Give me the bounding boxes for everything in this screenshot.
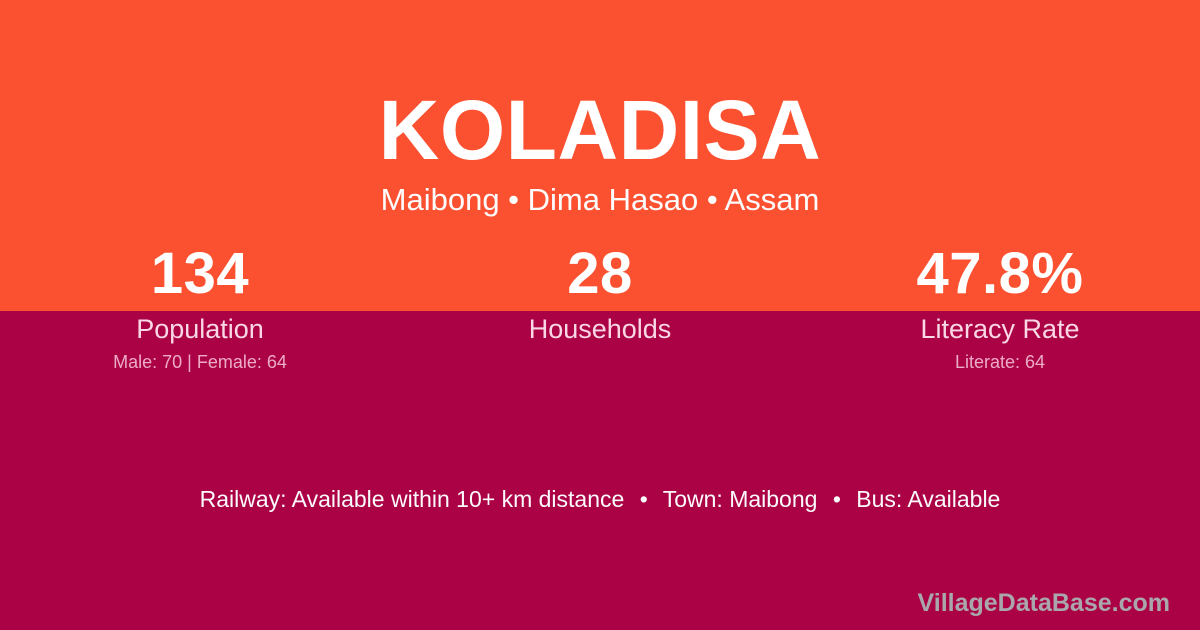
- stat-value: 134: [0, 243, 400, 305]
- amenity-separator-icon: •: [824, 486, 850, 512]
- location-breadcrumb: Maibong • Dima Hasao • Assam: [0, 182, 1200, 218]
- stat-population: 134 Population Male: 70 | Female: 64: [0, 243, 400, 373]
- stat-households: 28 Households: [400, 243, 800, 351]
- stat-value: 28: [400, 243, 800, 305]
- stat-label: Literacy Rate: [800, 313, 1200, 345]
- page-title: KOLADISA: [0, 84, 1200, 176]
- amenity-bus: Bus: Available: [856, 486, 1000, 512]
- stats-row: 134 Population Male: 70 | Female: 64 28 …: [0, 243, 1200, 373]
- stat-value: 47.8%: [800, 243, 1200, 305]
- amenities-line: Railway: Available within 10+ km distanc…: [0, 484, 1200, 514]
- amenity-separator-icon: •: [631, 486, 657, 512]
- stat-label: Households: [400, 313, 800, 345]
- stat-sub: Literate: 64: [800, 351, 1200, 373]
- stat-label: Population: [0, 313, 400, 345]
- amenity-railway: Railway: Available within 10+ km distanc…: [200, 486, 625, 512]
- stat-sub: Male: 70 | Female: 64: [0, 351, 400, 373]
- amenity-town: Town: Maibong: [663, 486, 818, 512]
- stat-literacy-rate: 47.8% Literacy Rate Literate: 64: [800, 243, 1200, 373]
- village-info-card: KOLADISA Maibong • Dima Hasao • Assam 13…: [0, 0, 1200, 630]
- site-brand-watermark: VillageDataBase.com: [918, 588, 1170, 618]
